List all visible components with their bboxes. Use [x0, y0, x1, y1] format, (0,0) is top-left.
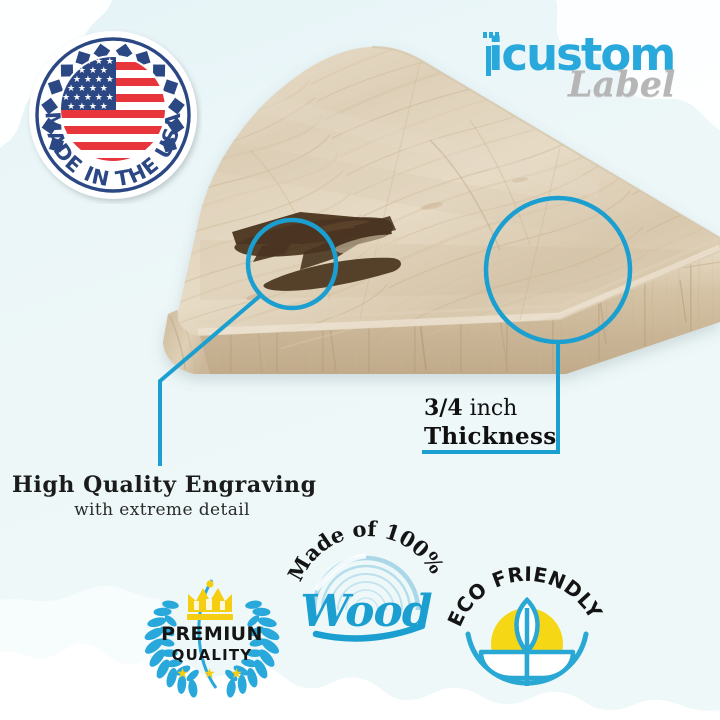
brand-logo: icustom Label: [470, 24, 700, 108]
engraving-leader-line: [160, 295, 261, 464]
badge-eco-friendly: ECO FRIENDLY: [442, 560, 612, 712]
engraving-callout-title: High Quality Engraving: [12, 472, 312, 498]
badge-made-of-wood: Made of 100% Wood: [286, 518, 446, 653]
brand-sub-name: Label: [568, 64, 675, 105]
badge-premium-quality: PREMIUN QUALITY ★ ★ ★: [132, 568, 292, 703]
badge-premium-line1: PREMIUN: [161, 623, 263, 645]
svg-text:★ ★ ★ ★: ★ ★ ★ ★: [67, 102, 108, 112]
engraving-callout-subtitle: with extreme detail: [12, 499, 312, 521]
infographic-canvas: icustom Label High Quality Engraving wit…: [0, 0, 720, 720]
engraving-callout: High Quality Engraving with extreme deta…: [12, 472, 312, 521]
thickness-value: 3/4: [424, 395, 463, 421]
thickness-callout-label: Thickness: [424, 423, 604, 451]
badge-made-in-usa: ★ ★ ★ ★ ★ ★ ★ ★ ★ ★ ★ ★ ★ ★ ★ ★ ★ ★ ★ ★ …: [24, 26, 202, 204]
svg-text:★ ★ ★: ★ ★ ★: [176, 666, 248, 682]
thickness-unit: inch: [470, 396, 518, 421]
badge-wood-arc-text: Made of 100%: [286, 518, 446, 585]
crown-icon: [187, 580, 233, 620]
thickness-callout: 3/4 inch Thickness: [424, 394, 604, 451]
rating-stars-icon: ★ ★ ★: [176, 666, 248, 682]
thickness-callout-value-row: 3/4 inch: [424, 394, 604, 423]
thickness-highlight-circle: [486, 198, 630, 342]
badge-premium-line2: QUALITY: [172, 646, 253, 664]
